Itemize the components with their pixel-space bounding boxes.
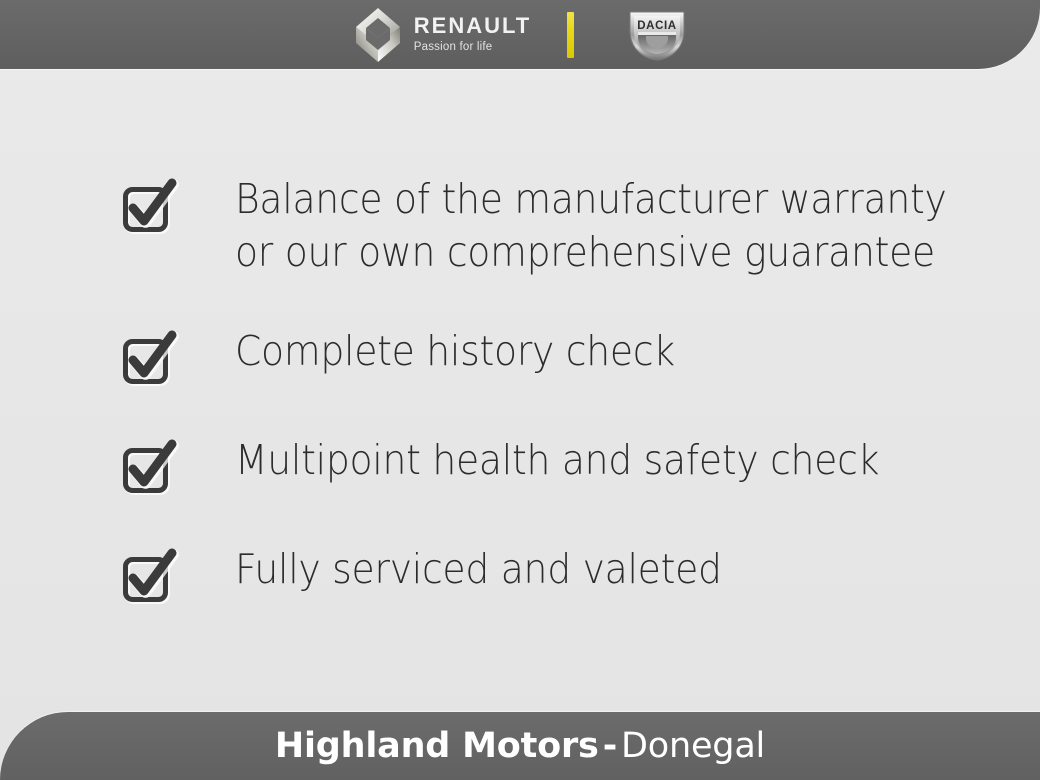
dealer-separator: -: [603, 726, 617, 766]
svg-text:DACIA: DACIA: [638, 20, 677, 32]
list-item-label: Multipoint health and safety check: [235, 434, 879, 487]
dacia-logo-block: DACIA: [626, 7, 688, 63]
dacia-shield-icon: DACIA: [626, 7, 688, 63]
checked-checkbox-icon: [120, 177, 180, 235]
vertical-divider-icon: [567, 12, 574, 58]
promo-slide: RENAULT Passion for life: [0, 0, 1040, 780]
brand-logo-group: RENAULT Passion for life: [0, 0, 1040, 69]
list-item: Multipoint health and safety check: [120, 434, 935, 496]
renault-logo-block: RENAULT Passion for life: [352, 6, 531, 64]
list-item-label: Fully serviced and valeted: [235, 543, 722, 596]
dealer-footer-bar: Highland Motors-Donegal: [0, 712, 1040, 780]
brand-header-bar: RENAULT Passion for life: [0, 0, 1040, 69]
list-item-label: Balance of the manufacturer warranty or …: [235, 173, 947, 279]
list-item: Complete history check: [120, 325, 713, 387]
dealer-title: Highland Motors-Donegal: [275, 726, 765, 766]
renault-diamond-icon: [352, 6, 404, 64]
feature-list: Balance of the manufacturer warranty or …: [0, 69, 1040, 712]
renault-brand-name: RENAULT: [414, 15, 531, 37]
renault-tagline: Passion for life: [414, 42, 531, 54]
list-item: Balance of the manufacturer warranty or …: [120, 173, 1008, 279]
checked-checkbox-icon: [120, 438, 180, 496]
dealer-name: Highland Motors: [275, 726, 599, 766]
list-item: Fully serviced and valeted: [120, 543, 764, 605]
list-item-label: Complete history check: [235, 325, 675, 378]
renault-wordmark: RENAULT Passion for life: [414, 15, 531, 54]
checked-checkbox-icon: [120, 329, 180, 387]
checked-checkbox-icon: [120, 547, 180, 605]
dealer-location: Donegal: [621, 726, 765, 766]
